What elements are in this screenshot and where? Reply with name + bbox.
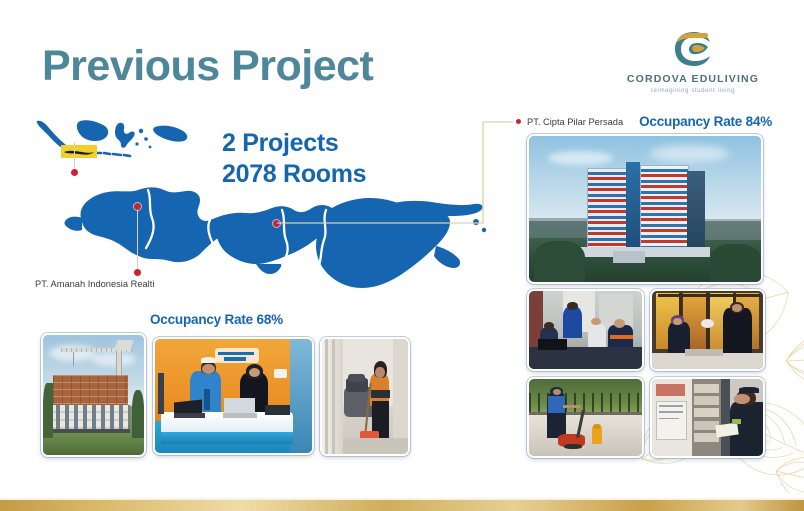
photo-staff-greeting-guest: [650, 289, 765, 371]
page-title: Previous Project: [42, 45, 373, 88]
label-company-cipta-text: PT. Cipta Pilar Persada: [527, 117, 623, 127]
photo-security-officer-clipboard: [650, 377, 765, 458]
cordova-leaf-mark-icon: [672, 30, 714, 68]
photo-cleaner-floor-polisher: [527, 377, 644, 458]
map-pin-amanah-west: [71, 169, 78, 176]
label-company-cipta: PT. Cipta Pilar Persada Occupancy Rate 8…: [516, 114, 772, 129]
map-pin-amanah: [134, 203, 141, 210]
bullet-dot-icon: [516, 119, 521, 124]
pin-connector-amanah-top: [74, 142, 75, 171]
map-pin-cipta: [273, 220, 280, 227]
logo-name: CORDOVA EDULIVING: [618, 73, 768, 85]
slide-canvas: Previous Project CORDOVA EDULIVING reima…: [0, 0, 804, 511]
photo-housekeeper-cleaning-room: [320, 337, 410, 456]
occupancy-rate-cipta: Occupancy Rate 84%: [639, 114, 772, 129]
pin-connector-amanah-bottom: [137, 205, 138, 271]
brand-logo: CORDOVA EDULIVING reimagining student li…: [618, 30, 768, 94]
map-pin-amanah-label: [134, 269, 141, 276]
photo-building-under-construction: [41, 333, 146, 457]
stat-projects: 2 Projects: [222, 128, 366, 159]
photo-staff-service-counter: [153, 337, 314, 455]
bottom-gold-bar: [0, 500, 804, 511]
label-company-amanah: PT. Amanah Indonesia Realti: [35, 279, 154, 289]
logo-tagline: reimagining student living: [618, 87, 768, 94]
occupancy-rate-amanah: Occupancy Rate 68%: [150, 312, 283, 327]
photo-staff-reception-desk: [527, 289, 644, 371]
photo-apartment-towers: [527, 134, 763, 284]
